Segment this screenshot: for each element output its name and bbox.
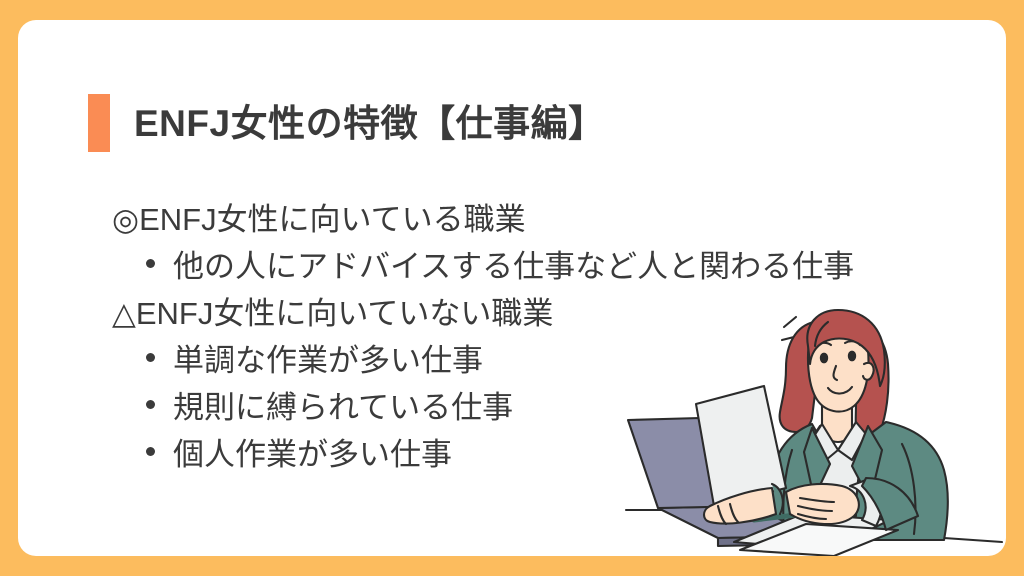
list-item-label: 他の人にアドバイスする仕事など人と関わる仕事 [173, 243, 854, 290]
bullet-icon [146, 259, 155, 268]
list-heading: ◎ ENFJ女性に向いている職業 [112, 196, 972, 243]
page-title: ENFJ女性の特徴【仕事編】 [88, 94, 606, 152]
list-item-label: 個人作業が多い仕事 [173, 431, 452, 478]
eye-left [820, 353, 828, 364]
slide-root: ENFJ女性の特徴【仕事編】 ◎ ENFJ女性に向いている職業 他の人にアドバイ… [0, 0, 1024, 576]
title-accent-bar [88, 94, 110, 152]
double-circle-icon: ◎ [112, 196, 139, 243]
bullet-icon [146, 400, 155, 409]
eye-right [848, 351, 856, 362]
list-heading-label: ENFJ女性に向いている職業 [139, 196, 526, 243]
illustration-businesswoman [614, 292, 1006, 556]
list-heading-label: ENFJ女性に向いていない職業 [136, 290, 554, 337]
desk-line-right [944, 538, 1002, 542]
slide-card: ENFJ女性の特徴【仕事編】 ◎ ENFJ女性に向いている職業 他の人にアドバイ… [18, 20, 1006, 556]
bullet-icon [146, 447, 155, 456]
ear [863, 363, 874, 380]
list-item: 他の人にアドバイスする仕事など人と関わる仕事 [112, 243, 972, 290]
bullet-icon [146, 353, 155, 362]
list-item-label: 単調な作業が多い仕事 [173, 337, 483, 384]
businesswoman-illustration-svg [614, 292, 1006, 556]
triangle-icon: △ [112, 290, 136, 337]
list-item-label: 規則に縛られている仕事 [173, 384, 513, 431]
title-text: ENFJ女性の特徴【仕事編】 [134, 105, 606, 142]
